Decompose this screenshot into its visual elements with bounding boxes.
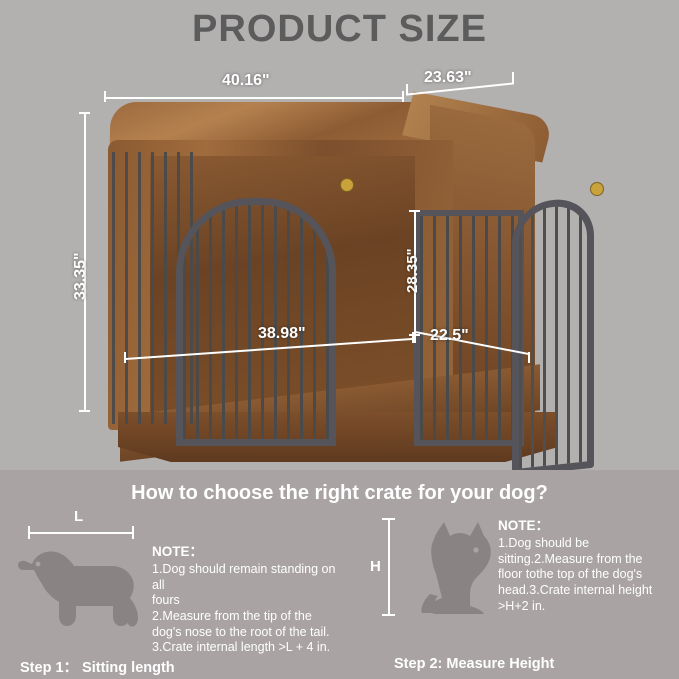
depth-dimension-tick-left	[406, 84, 408, 95]
left-door-frame	[176, 198, 336, 446]
height-measure-line	[388, 518, 390, 616]
left-door-latch-icon[interactable]	[340, 178, 354, 192]
width-dimension-label: 40.16"	[222, 72, 270, 90]
length-label: L	[74, 508, 83, 525]
bottom-section: How to choose the right crate for your d…	[0, 470, 679, 679]
step2-note-body: 1.Dog should be sitting.2.Measure from t…	[498, 536, 664, 614]
step2-caption: Step 2: Measure Height	[394, 656, 554, 672]
left-door[interactable]	[176, 198, 336, 446]
page-title: PRODUCT SIZE	[0, 8, 679, 51]
door-height-dimension-label: 28.35"	[404, 248, 421, 293]
crate-illustration: 40.16" 23.63" 33.35" 28.35" 38.98"	[0, 60, 679, 460]
width-dimension-tick-right	[402, 91, 404, 102]
right-door-open[interactable]	[512, 200, 594, 472]
height-measure-tick-top	[382, 518, 395, 520]
standing-dog-silhouette-icon	[16, 544, 146, 639]
length-measure-tick-left	[28, 526, 30, 539]
step1-note-title: NOTE：	[152, 544, 203, 561]
height-measure-tick-bottom	[382, 614, 395, 616]
depth-dimension-label: 23.63"	[424, 69, 472, 87]
step2-note-title: NOTE：	[498, 518, 549, 535]
height-label: H	[370, 558, 381, 575]
right-door-open-frame	[512, 196, 594, 477]
sitting-dog-silhouette-icon	[406, 520, 506, 620]
inner-depth-dimension-label: 22.5"	[430, 327, 469, 345]
step1-caption: Step 1： Sitting length	[20, 656, 175, 677]
height-dimension-label: 33.35"	[72, 252, 90, 300]
height-dimension-tick-top	[79, 112, 90, 114]
length-measure-line	[28, 532, 134, 534]
top-section: PRODUCT SIZE	[0, 0, 679, 470]
inner-depth-tick-left	[414, 332, 416, 343]
width-dimension-tick-left	[104, 91, 106, 102]
right-door-latch-icon[interactable]	[590, 182, 604, 196]
step1-note-body: 1.Dog should remain standing on all four…	[152, 562, 348, 656]
length-measure-tick-right	[132, 526, 134, 539]
bottom-title: How to choose the right crate for your d…	[0, 482, 679, 505]
height-dimension-tick-bottom	[79, 410, 90, 412]
depth-dimension-tick-right	[512, 72, 514, 83]
inner-depth-tick-right	[528, 352, 530, 363]
door-height-tick-top	[409, 210, 420, 212]
inner-width-tick-left	[124, 352, 126, 363]
inner-width-dimension-label: 38.98"	[258, 325, 306, 343]
product-size-infographic: PRODUCT SIZE	[0, 0, 679, 679]
width-dimension-line	[104, 97, 404, 99]
